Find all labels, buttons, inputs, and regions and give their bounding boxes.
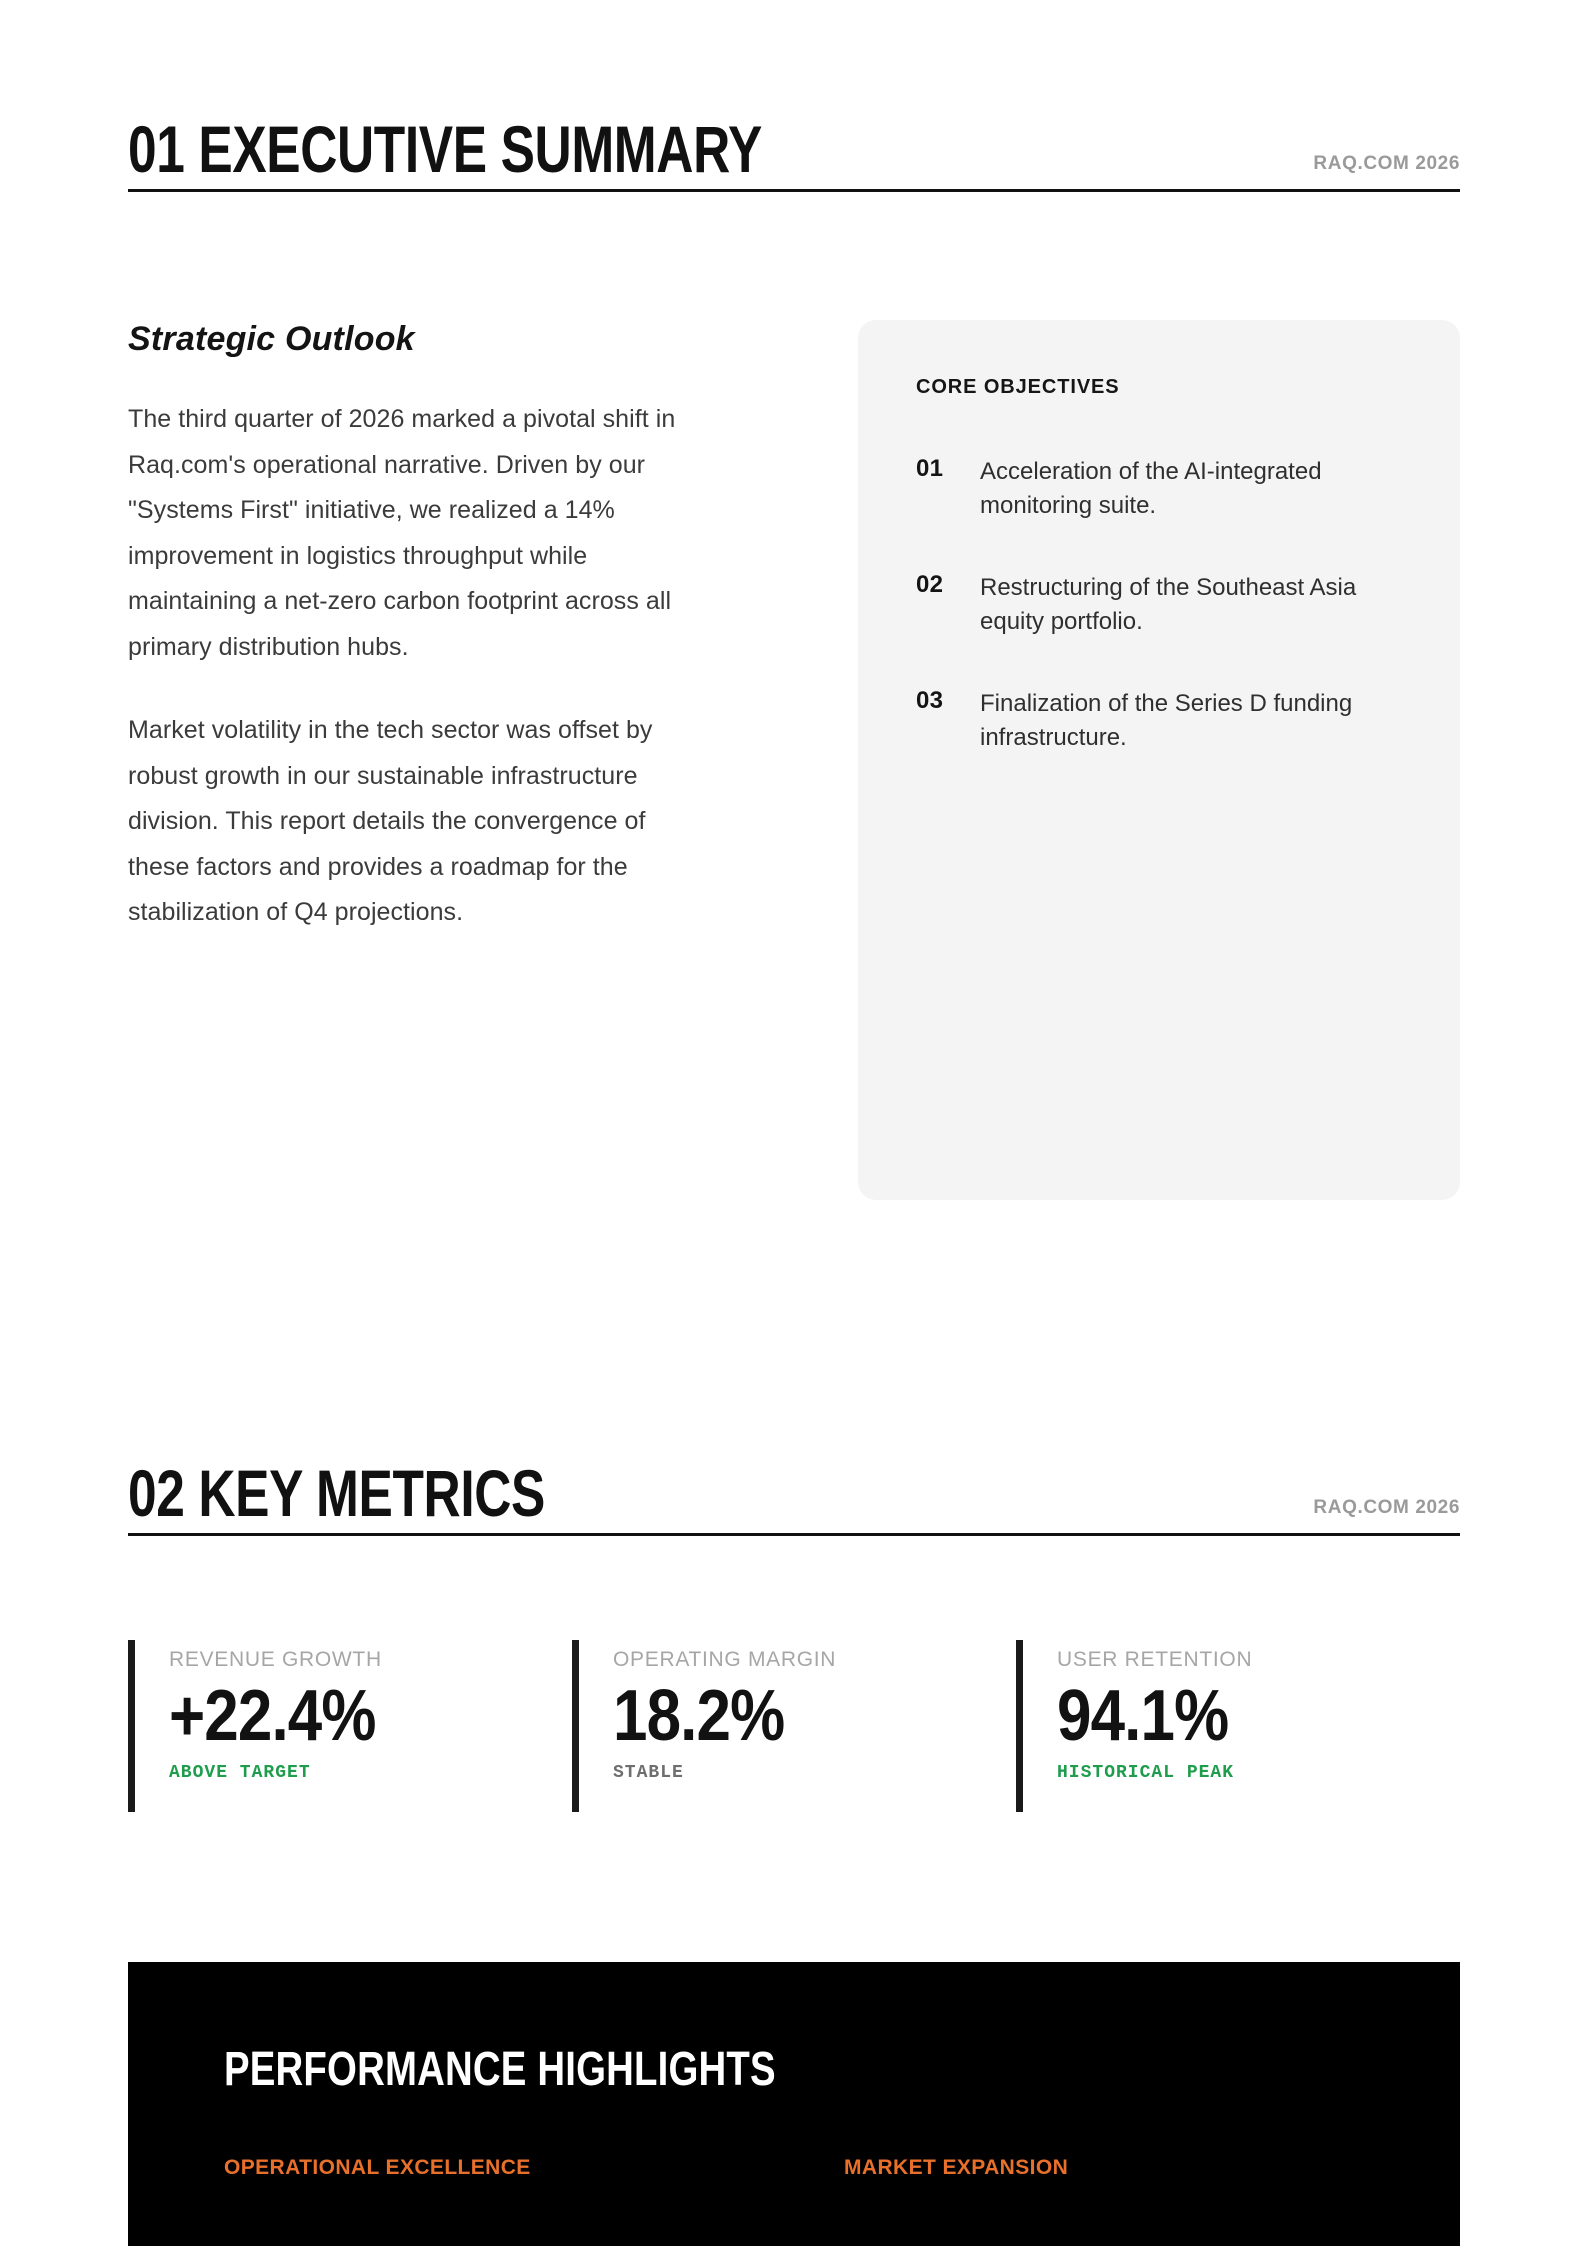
objective-item: 02 Restructuring of the Southeast Asia e… [916, 571, 1410, 639]
executive-summary-text-column: Strategic Outlook The third quarter of 2… [128, 320, 748, 936]
highlight-column-operational-excellence: OPERATIONAL EXCELLENCE [224, 2156, 844, 2180]
metric-value: 18.2% [613, 1680, 960, 1753]
metric-status: STABLE [613, 1763, 1016, 1783]
highlight-column-market-expansion: MARKET EXPANSION [844, 2156, 1464, 2180]
section-stamp-executive-summary: RAQ.COM 2026 [1313, 153, 1460, 181]
metric-label: REVENUE GROWTH [169, 1648, 572, 1672]
metric-label: OPERATING MARGIN [613, 1648, 1016, 1672]
highlight-column-title: OPERATIONAL EXCELLENCE [224, 2156, 844, 2180]
metric-card-user-retention: USER RETENTION 94.1% HISTORICAL PEAK [1016, 1640, 1460, 1812]
section-rule [128, 189, 1460, 192]
strategic-outlook-subtitle: Strategic Outlook [128, 320, 708, 359]
objective-text: Acceleration of the AI-integrated monito… [980, 455, 1410, 523]
metric-value: 94.1% [1057, 1680, 1404, 1753]
metric-card-operating-margin: OPERATING MARGIN 18.2% STABLE [572, 1640, 1016, 1812]
report-page: 01 EXECUTIVE SUMMARY RAQ.COM 2026 Strate… [0, 0, 1588, 2246]
objective-number: 01 [916, 455, 980, 523]
highlight-column-title: MARKET EXPANSION [844, 2156, 1464, 2180]
objective-item: 01 Acceleration of the AI-integrated mon… [916, 455, 1410, 523]
performance-highlights-title: PERFORMANCE HIGHLIGHTS [224, 2046, 1213, 2094]
section-title-key-metrics: 02 KEY METRICS [128, 1462, 545, 1525]
section-rule [128, 1533, 1460, 1536]
objective-number: 03 [916, 687, 980, 755]
section-stamp-key-metrics: RAQ.COM 2026 [1313, 1497, 1460, 1525]
objective-text: Finalization of the Series D funding inf… [980, 687, 1410, 755]
metric-label: USER RETENTION [1057, 1648, 1460, 1672]
summary-paragraph: The third quarter of 2026 marked a pivot… [128, 397, 708, 670]
performance-highlights-banner: PERFORMANCE HIGHLIGHTS OPERATIONAL EXCEL… [128, 1962, 1460, 2246]
section-header-executive-summary: 01 EXECUTIVE SUMMARY RAQ.COM 2026 [128, 118, 1460, 192]
objective-text: Restructuring of the Southeast Asia equi… [980, 571, 1410, 639]
metric-value: +22.4% [169, 1680, 516, 1753]
objective-number: 02 [916, 571, 980, 639]
metric-card-revenue-growth: REVENUE GROWTH +22.4% ABOVE TARGET [128, 1640, 572, 1812]
objective-item: 03 Finalization of the Series D funding … [916, 687, 1410, 755]
summary-paragraph: Market volatility in the tech sector was… [128, 708, 708, 936]
section-title-executive-summary: 01 EXECUTIVE SUMMARY [128, 118, 762, 181]
metric-status: HISTORICAL PEAK [1057, 1763, 1460, 1783]
section-header-row: 02 KEY METRICS RAQ.COM 2026 [128, 1462, 1460, 1533]
section-header-row: 01 EXECUTIVE SUMMARY RAQ.COM 2026 [128, 118, 1460, 189]
section-header-key-metrics: 02 KEY METRICS RAQ.COM 2026 [128, 1462, 1460, 1536]
core-objectives-label: CORE OBJECTIVES [916, 376, 1410, 399]
key-metrics-row: REVENUE GROWTH +22.4% ABOVE TARGET OPERA… [128, 1640, 1460, 1812]
metric-status: ABOVE TARGET [169, 1763, 572, 1783]
core-objectives-panel: CORE OBJECTIVES 01 Acceleration of the A… [858, 320, 1460, 1200]
performance-highlights-columns: OPERATIONAL EXCELLENCE MARKET EXPANSION [224, 2156, 1460, 2180]
